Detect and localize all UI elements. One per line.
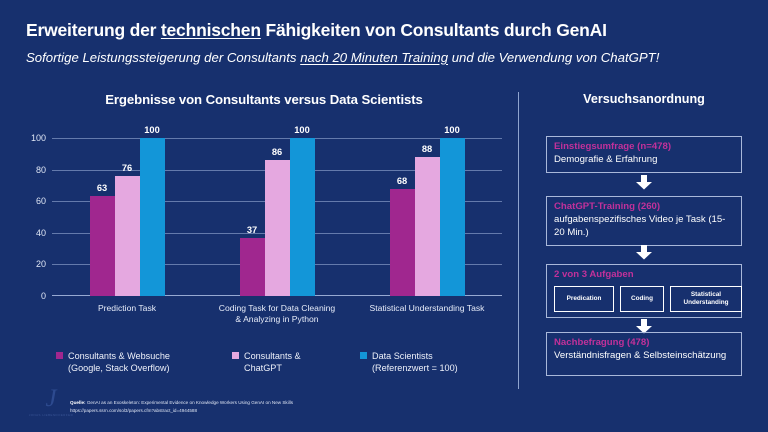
x-axis-category-label: Coding Task for Data Cleaning& Analyzing…: [202, 303, 352, 326]
y-axis-tick-label: 0: [41, 291, 46, 301]
down-arrow-icon: [635, 175, 653, 190]
y-axis-tick-label: 20: [36, 259, 46, 269]
legend-item: Data Scientists(Referenzwert = 100): [360, 350, 510, 374]
task-box: Coding: [620, 286, 664, 312]
task-box-row: PredicationCodingStatistical Understandi…: [554, 286, 734, 312]
y-axis-tick-label: 60: [36, 196, 46, 206]
flow-step-box: 2 von 3 AufgabenPredicationCodingStatist…: [546, 264, 742, 318]
task-box: Statistical Understanding: [670, 286, 742, 312]
flow-step-heading: Einstiegsumfrage (n=478): [554, 141, 734, 153]
slide-header: Erweiterung der technischen Fähigkeiten …: [26, 20, 742, 65]
page-title-part-b: Fähigkeiten von Consultants durch GenAI: [261, 20, 607, 40]
source-citation: Quelle: GenAI as an Exoskeleton: Experim…: [70, 399, 490, 415]
bar: 76: [115, 176, 140, 296]
flow-step-box: Nachbefragung (478)Verständnisfragen & S…: [546, 332, 742, 376]
legend-label: Data Scientists(Referenzwert = 100): [372, 350, 458, 374]
bar: 68: [390, 189, 415, 296]
flow-step-box: Einstiegsumfrage (n=478)Demografie & Erf…: [546, 136, 742, 173]
legend-label: Consultants & Websuche(Google, Stack Ove…: [68, 350, 170, 374]
gridline: [52, 138, 502, 139]
bar: 86: [265, 160, 290, 296]
bar-value-label: 88: [422, 144, 432, 154]
bar: 100: [440, 138, 465, 296]
source-text: GenAI as an Exoskeleton: Experimental Ev…: [87, 400, 293, 405]
x-axis-category-label: Prediction Task: [52, 303, 202, 314]
flow-step-body: Verständnisfragen & Selbsteinschätzung: [554, 350, 734, 363]
source-url[interactable]: https://papers.ssrn.com/sol3/papers.cfm?…: [70, 408, 197, 413]
y-axis-tick-label: 80: [36, 165, 46, 175]
flow-step-heading: 2 von 3 Aufgaben: [554, 269, 734, 281]
panel-divider: [518, 92, 519, 389]
flow-arrow: [635, 175, 653, 190]
bar-value-label: 63: [97, 183, 107, 193]
x-axis-category-label: Statistical Understanding Task: [352, 303, 502, 314]
down-arrow-icon: [635, 245, 653, 260]
legend-item: Consultants &ChatGPT: [232, 350, 360, 374]
page-subtitle-part-b: und die Verwendung von ChatGPT!: [448, 50, 659, 65]
flow-arrow: [635, 245, 653, 260]
chart-panel: Ergebnisse von Consultants versus Data S…: [14, 92, 514, 392]
bar-value-label: 86: [272, 147, 282, 157]
flow-title: Versuchsanordnung: [520, 92, 768, 106]
legend-swatch: [56, 352, 63, 359]
page-title-part-a: Erweiterung der: [26, 20, 161, 40]
legend-swatch: [360, 352, 367, 359]
source-label: Quelle:: [70, 400, 86, 405]
legend-swatch: [232, 352, 239, 359]
legend-item: Consultants & Websuche(Google, Stack Ove…: [56, 350, 232, 374]
bar-value-label: 100: [294, 125, 310, 135]
legend-label: Consultants &ChatGPT: [244, 350, 301, 374]
flow-step-body: Demografie & Erfahrung: [554, 154, 734, 167]
chart-title: Ergebnisse von Consultants versus Data S…: [14, 92, 514, 107]
flow-step-box: ChatGPT-Training (260)aufgabenspezifisch…: [546, 196, 742, 246]
bar-value-label: 100: [144, 125, 160, 135]
bar: 63: [90, 196, 115, 296]
bar: 100: [290, 138, 315, 296]
chart-legend: Consultants & Websuche(Google, Stack Ove…: [56, 350, 516, 374]
experiment-flow-panel: Versuchsanordnung Einstiegsumfrage (n=47…: [520, 92, 768, 392]
bar: 88: [415, 157, 440, 296]
page-title-underlined: technischen: [161, 20, 261, 40]
page-subtitle: Sofortige Leistungssteigerung der Consul…: [26, 50, 742, 65]
task-box: Predication: [554, 286, 614, 312]
y-axis-tick-label: 100: [31, 133, 46, 143]
flow-step-heading: Nachbefragung (478): [554, 337, 734, 349]
bar-value-label: 76: [122, 163, 132, 173]
page-subtitle-part-a: Sofortige Leistungssteigerung der Consul…: [26, 50, 300, 65]
bar-value-label: 37: [247, 225, 257, 235]
flow-step-body: aufgabenspezifisches Video je Task (15-2…: [554, 214, 734, 239]
bar-value-label: 100: [444, 125, 460, 135]
page-title: Erweiterung der technischen Fähigkeiten …: [26, 20, 742, 41]
page-subtitle-underlined: nach 20 Minuten Training: [300, 50, 448, 65]
y-axis-tick-label: 40: [36, 228, 46, 238]
bar-chart-plot-area: 0204060801006376100Prediction Task378610…: [52, 138, 502, 296]
flow-step-heading: ChatGPT-Training (260): [554, 201, 734, 213]
bar: 37: [240, 238, 265, 296]
bar-value-label: 68: [397, 176, 407, 186]
bar: 100: [140, 138, 165, 296]
